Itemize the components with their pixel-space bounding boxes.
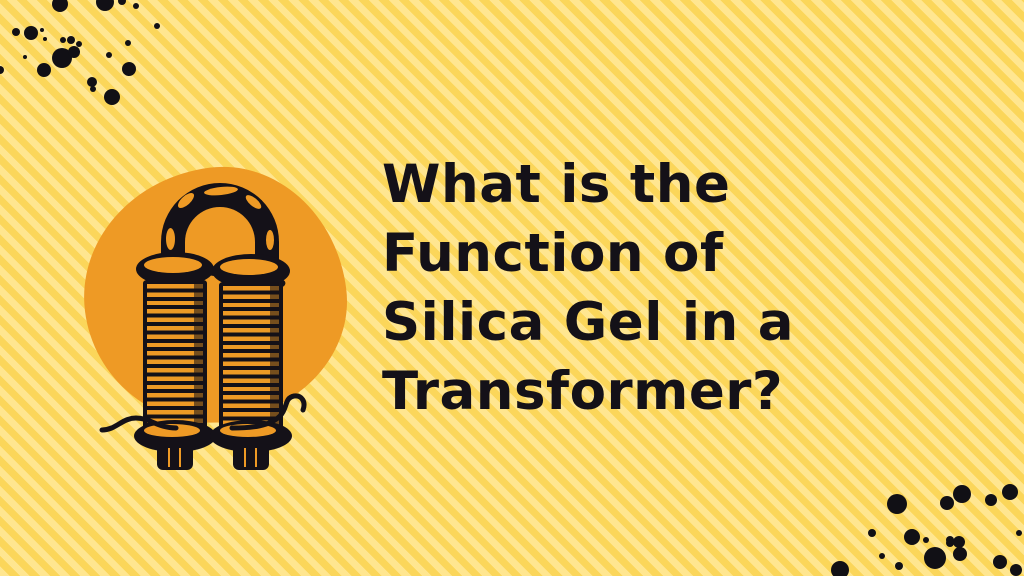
confetti-dot [879,553,885,559]
title-line-1: What is the [382,150,962,219]
confetti-dot [1002,484,1018,500]
lead-wires [84,368,346,448]
nut-right-line-b [255,448,257,467]
confetti-dot [868,529,876,537]
confetti-dot [953,485,971,503]
arch-highlight-lower-left [166,228,175,250]
confetti-dot [953,547,967,561]
arch-highlight-lower-right [266,230,274,250]
title-line-2: Function of [382,219,962,288]
confetti-dot [904,529,920,545]
confetti-dot [1010,564,1022,576]
coil-cap-right-highlight [220,259,278,275]
confetti-dot [993,555,1007,569]
confetti-dot [940,496,954,510]
title-line-3: Silica Gel in a [382,288,962,357]
confetti-dot [923,537,929,543]
nut-left-line-a [168,448,170,467]
page-title: What is the Function of Silica Gel in a … [382,150,962,426]
transformer-illustration [84,168,346,422]
nut-right-line-a [244,448,246,467]
confetti-dot [924,547,946,569]
coil-cap-left-highlight [144,257,202,273]
poster-canvas: What is the Function of Silica Gel in a … [0,0,1024,576]
title-line-4: Transformer? [382,357,962,426]
confetti-dot [1016,530,1022,536]
confetti-dot [985,494,997,506]
confetti-dot [895,562,903,570]
confetti-dot [887,494,907,514]
confetti-dot [831,561,849,576]
nut-left-line-b [179,448,181,467]
